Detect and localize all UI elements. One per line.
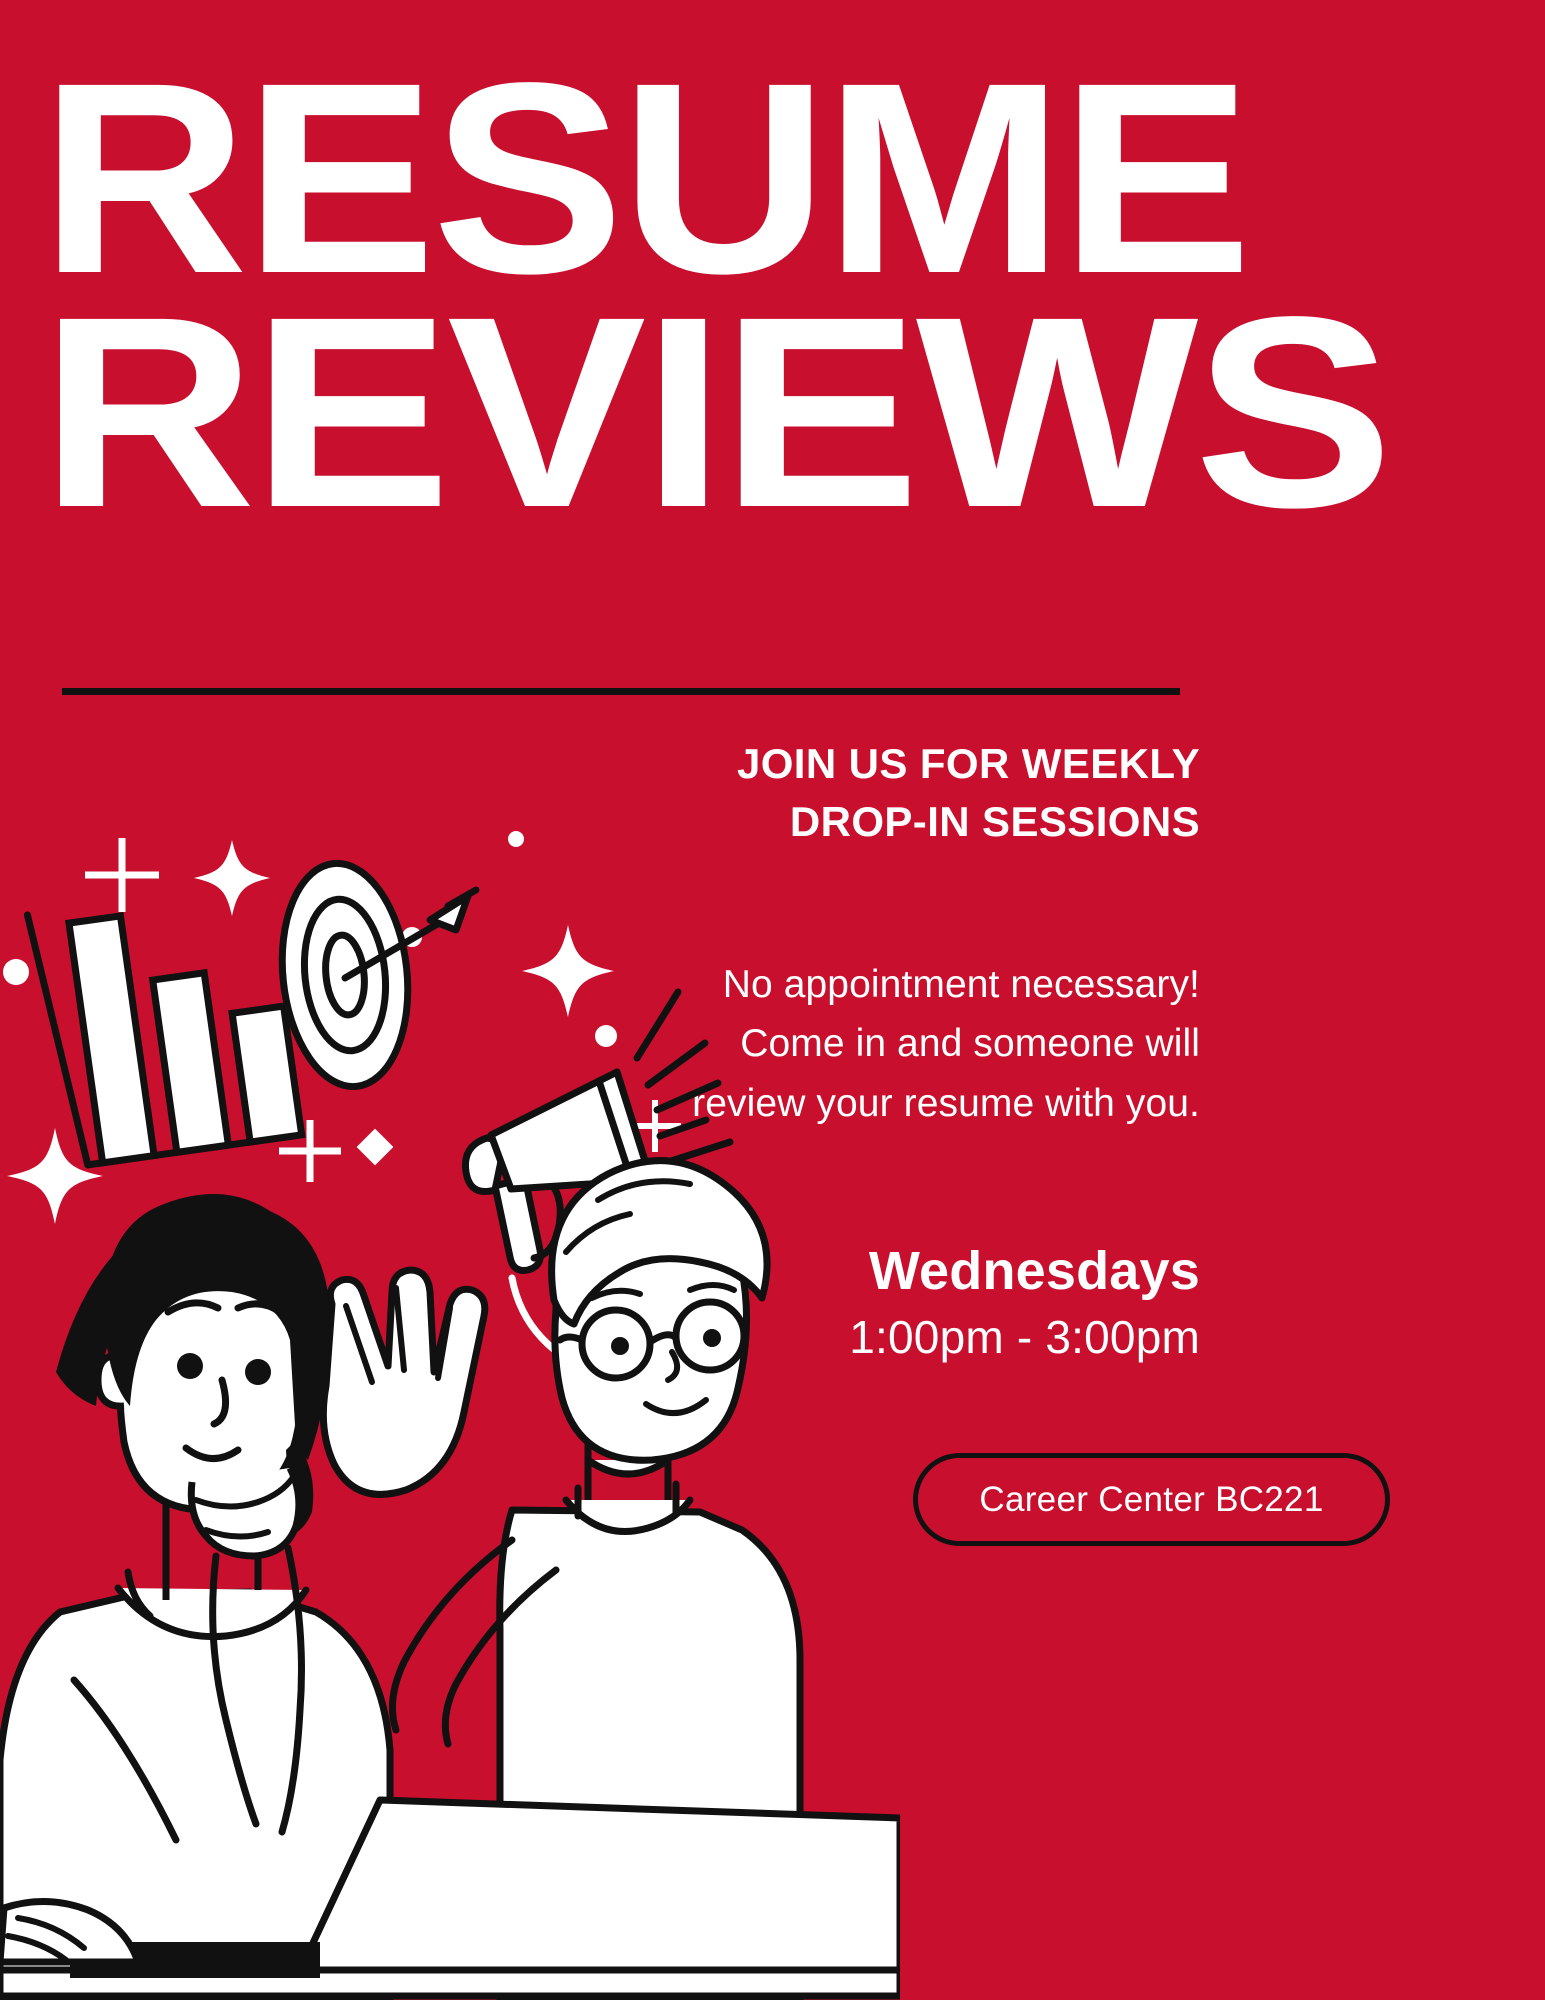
poster-canvas: RESUME REVIEWS JOIN US FOR WEEKLY DROP-I… <box>0 0 1545 2000</box>
open-hand-illustration <box>323 1270 484 1494</box>
location-badge-label: Career Center BC221 <box>979 1480 1323 1520</box>
location-badge[interactable]: Career Center BC221 <box>913 1453 1390 1546</box>
subheading-line-1: JOIN US FOR WEEKLY <box>620 735 1200 793</box>
headline-line-2: REVIEWS <box>40 296 1338 530</box>
headline-divider-rule <box>62 688 1180 695</box>
page-title: RESUME REVIEWS <box>40 62 1220 530</box>
people-illustration <box>0 800 900 2000</box>
